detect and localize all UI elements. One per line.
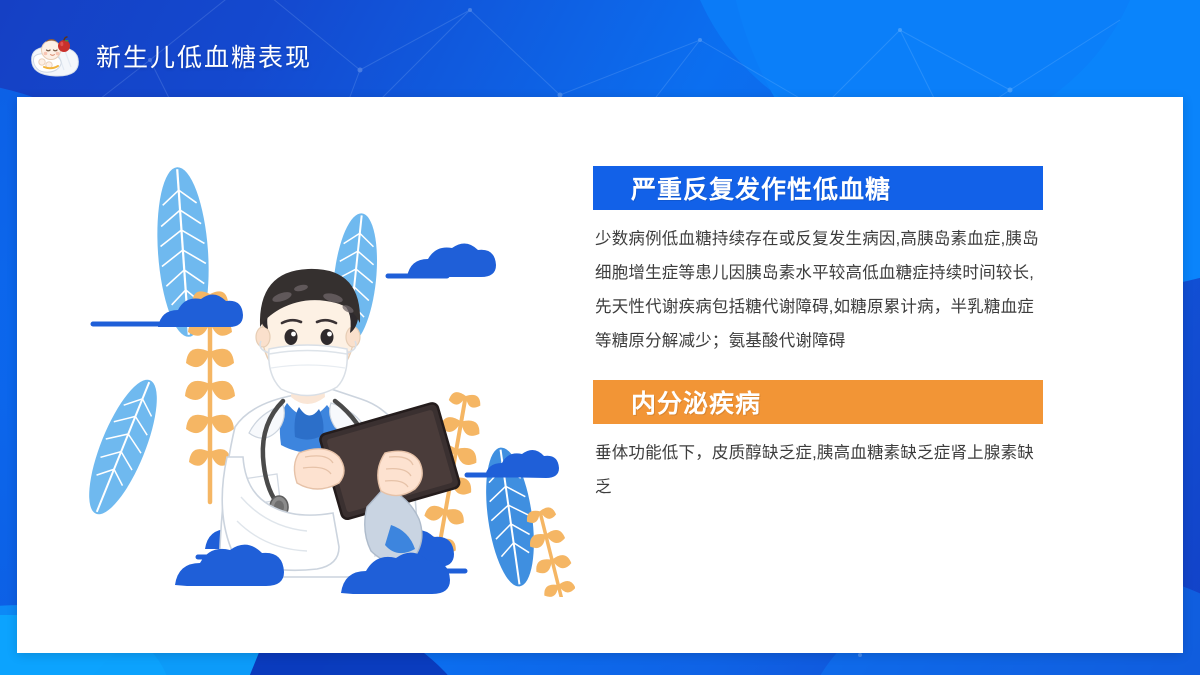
- doctor-illustration: [55, 157, 575, 597]
- page-title: 新生儿低血糖表现: [96, 38, 312, 74]
- section-title: 严重反复发作性低血糖: [631, 170, 891, 206]
- section-body-text: 少数病例低血糖持续存在或反复发生病因,高胰岛素血症,胰岛细胞增生症等患儿因胰岛素…: [593, 218, 1043, 358]
- section-header-bar-orange: 内分泌疾病: [593, 380, 1043, 424]
- slide-header: 新生儿低血糖表现: [28, 33, 312, 79]
- section-endocrine-disease: 内分泌疾病 垂体功能低下，皮质醇缺乏症,胰高血糖素缺乏症肾上腺素缺乏: [593, 380, 1043, 504]
- sections-container: 严重反复发作性低血糖 少数病例低血糖持续存在或反复发生病因,高胰岛素血症,胰岛细…: [593, 166, 1043, 504]
- doctor-with-tablet-icon: [55, 157, 575, 597]
- section-title: 内分泌疾病: [631, 384, 761, 420]
- sleeping-baby-icon: [28, 33, 82, 79]
- section-severe-recurrent-hypoglycemia: 严重反复发作性低血糖 少数病例低血糖持续存在或反复发生病因,高胰岛素血症,胰岛细…: [593, 166, 1043, 358]
- section-body-text: 垂体功能低下，皮质醇缺乏症,胰高血糖素缺乏症肾上腺素缺乏: [593, 432, 1043, 504]
- content-card: 严重反复发作性低血糖 少数病例低血糖持续存在或反复发生病因,高胰岛素血症,胰岛细…: [17, 97, 1183, 653]
- section-header-bar-blue: 严重反复发作性低血糖: [593, 166, 1043, 210]
- slide-root: 新生儿低血糖表现: [0, 0, 1200, 675]
